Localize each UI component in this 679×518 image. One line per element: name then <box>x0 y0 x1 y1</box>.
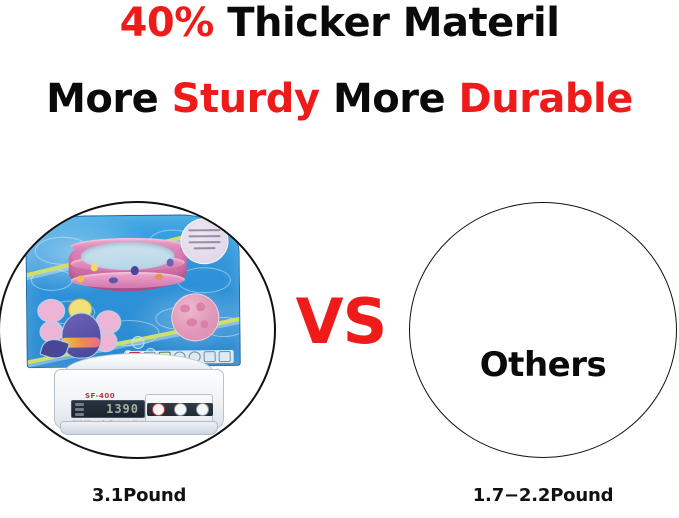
others-circle: Others <box>409 202 677 458</box>
starfish-icon <box>77 276 84 283</box>
vs-label: VS <box>281 291 401 353</box>
right-weight-caption: 1.7−2.2Pound <box>409 485 677 506</box>
bubble-icon <box>131 336 144 349</box>
fish-icon <box>109 277 118 283</box>
headline-more-text-2: More <box>320 76 459 122</box>
product-box <box>25 214 241 368</box>
kitchen-scale: SF-400 1390 MAX 10kg d=1g Electronic Kit… <box>52 353 224 443</box>
octopus-arm <box>37 299 65 323</box>
headline-line-1: 40% Thicker Materil <box>0 3 679 43</box>
headline-more-text-1: More <box>46 76 172 122</box>
box-badge <box>180 218 228 265</box>
product-box-front-face <box>25 214 241 368</box>
others-label: Others <box>410 345 676 385</box>
headline-durable-text: Durable <box>459 76 633 122</box>
inflatable-pool-illustration <box>68 232 187 295</box>
scale-button-strip <box>147 403 213 416</box>
starfish-icon <box>91 263 98 271</box>
scale-tare-button[interactable] <box>196 403 209 416</box>
scale-body: SF-400 1390 MAX 10kg d=1g Electronic Kit… <box>54 369 224 429</box>
scale-unit-button[interactable] <box>174 403 187 416</box>
mascot-illustration <box>37 294 124 361</box>
left-weight-caption: 3.1Pound <box>0 485 278 506</box>
fish-icon <box>155 274 163 280</box>
lcd-unit-indicators <box>75 403 84 416</box>
comparison-row: SF-400 1390 MAX 10kg d=1g Electronic Kit… <box>0 190 679 475</box>
scale-base <box>60 421 218 435</box>
scale-brand-label: SF-400 <box>85 392 115 400</box>
product-photo: SF-400 1390 MAX 10kg d=1g Electronic Kit… <box>0 203 276 459</box>
seahorse-icon <box>131 266 139 275</box>
fish-icon <box>167 259 174 267</box>
scale-weight-value: 1390 <box>106 402 139 416</box>
headline-thicker-text: Thicker Materil <box>214 0 560 46</box>
headline-percent-text: 40% <box>120 0 214 46</box>
product-photo-circle: SF-400 1390 MAX 10kg d=1g Electronic Kit… <box>0 201 276 459</box>
headline-line-2: More Sturdy More Durable <box>0 79 679 119</box>
headline-sturdy-text: Sturdy <box>172 76 320 122</box>
scale-power-button[interactable] <box>152 403 165 416</box>
pool-ring <box>71 271 185 288</box>
box-detail-inset <box>171 293 220 342</box>
scale-lcd-display: 1390 <box>71 400 145 418</box>
